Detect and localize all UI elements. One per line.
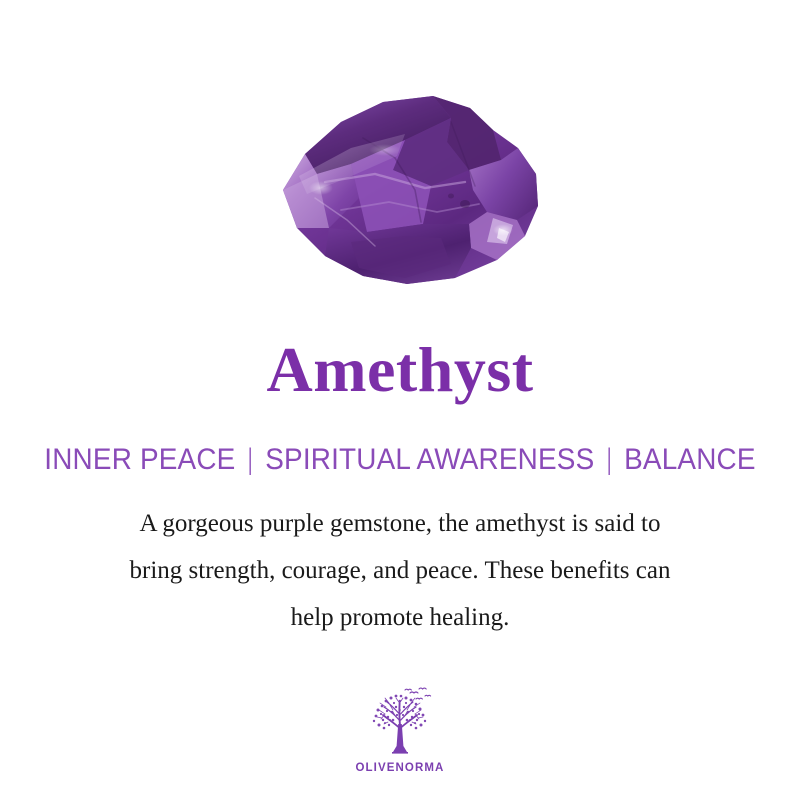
- description-line: A gorgeous purple gemstone, the amethyst…: [60, 500, 740, 547]
- keyword-separator: |: [241, 443, 259, 476]
- keyword-balance: BALANCE: [624, 443, 756, 476]
- amethyst-info-card: Amethyst INNER PEACE|SPIRITUAL AWARENESS…: [0, 0, 800, 800]
- description-line: help promote healing.: [60, 594, 740, 641]
- gemstone-image-area: [0, 60, 800, 310]
- brand-logo: OLIVENORMA: [0, 684, 800, 774]
- brand-wordmark: OLIVENORMA: [356, 762, 445, 774]
- description-text: A gorgeous purple gemstone, the amethyst…: [60, 500, 740, 641]
- description-line: bring strength, courage, and peace. Thes…: [60, 547, 740, 594]
- keyword-separator: |: [600, 443, 618, 476]
- keyword-spiritual-awareness: SPIRITUAL AWARENESS: [265, 443, 594, 476]
- keyword-row: INNER PEACE|SPIRITUAL AWARENESS|BALANCE: [28, 443, 772, 476]
- amethyst-crystal-illustration: [255, 78, 545, 293]
- keyword-inner-peace: INNER PEACE: [44, 443, 235, 476]
- tree-of-life-icon: [363, 684, 437, 760]
- amethyst-crystal-image: [255, 78, 545, 293]
- gemstone-title: Amethyst: [0, 336, 800, 403]
